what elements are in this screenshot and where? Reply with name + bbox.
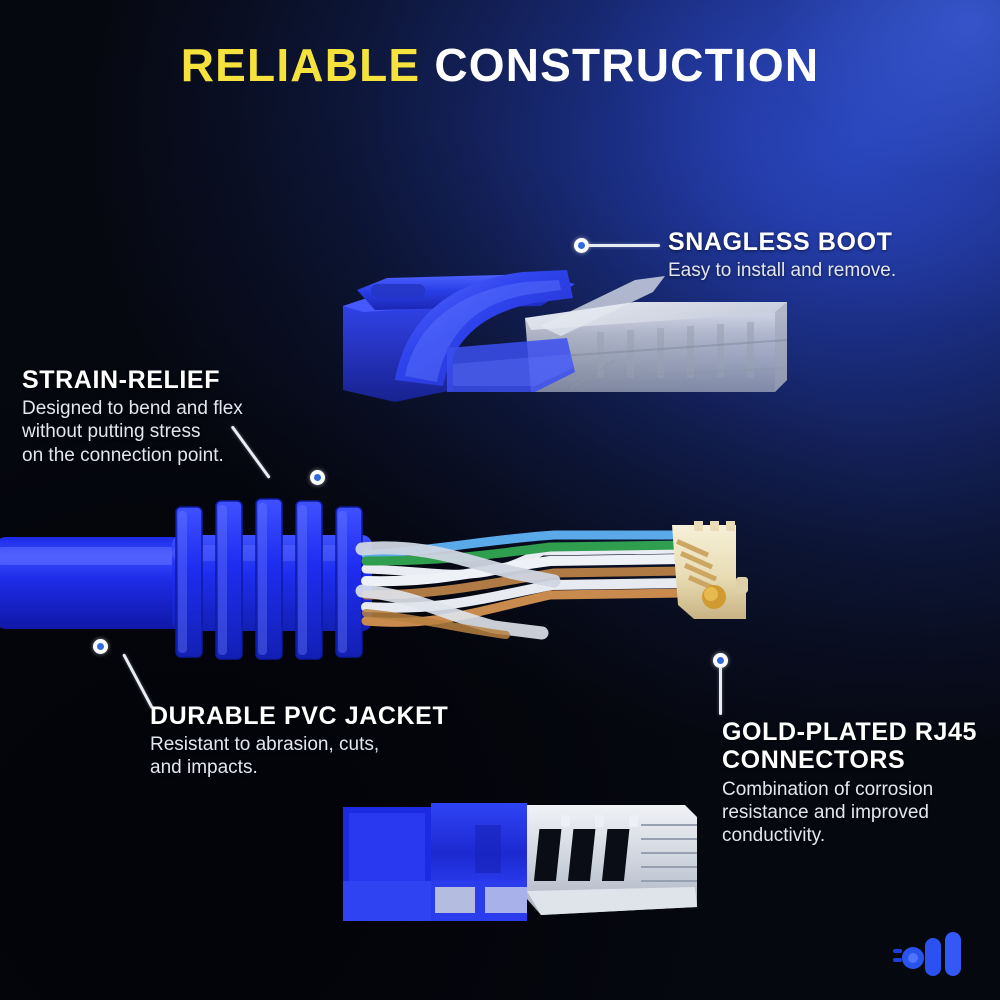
callout-heading: DURABLE PVC JACKET [150,702,448,730]
infographic-canvas: RELIABLE CONSTRUCTION [0,0,1000,1000]
plug-bars-logo [893,928,965,976]
cable-illustration [0,495,774,675]
callout-pvc-jacket: DURABLE PVC JACKET Resistant to abrasion… [150,702,448,780]
blue-boot-underside [343,803,527,921]
leader-line-rj45 [719,667,722,715]
callout-heading: STRAIN-RELIEF [22,366,243,394]
connector-underside-illustration [335,795,705,930]
callout-body-line-1: Resistant to abrasion, cuts, [150,733,448,756]
callout-body: Combination of corrosion resistance and … [722,778,977,848]
callout-body-line-1: Combination of corrosion [722,778,977,801]
callout-body-line-3: on the connection point. [22,444,243,467]
callout-heading: GOLD-PLATED RJ45 CONNECTORS [722,718,977,775]
twisted-pair-wires [362,535,684,635]
callout-body: Easy to install and remove. [668,259,896,282]
callout-body: Resistant to abrasion, cuts, and impacts… [150,733,448,779]
strain-relief-boot [172,499,372,659]
callout-body-line-2: resistance and improved [722,801,977,824]
callout-body-line-1: Designed to bend and flex [22,397,243,420]
callout-marker-snagless-boot[interactable] [574,238,589,253]
callout-strain-relief: STRAIN-RELIEF Designed to bend and flex … [22,366,243,467]
title-rest: CONSTRUCTION [434,39,819,91]
callout-heading-line-2: CONNECTORS [722,746,977,774]
page-title: RELIABLE CONSTRUCTION [0,38,1000,92]
callout-marker-pvc-jacket[interactable] [93,639,108,654]
callout-body-line-3: conductivity. [722,824,977,847]
callout-heading: SNAGLESS BOOT [668,228,896,256]
callout-marker-strain-relief[interactable] [310,470,325,485]
leader-line-snagless-boot [588,244,660,247]
callout-body: Designed to bend and flex without puttin… [22,397,243,467]
callout-marker-rj45[interactable] [713,653,728,668]
gold-plated-rj45-connector [672,521,748,619]
plug-contact-slots [527,805,697,915]
title-highlight: RELIABLE [181,39,421,91]
callout-snagless-boot: SNAGLESS BOOT Easy to install and remove… [668,228,896,282]
callout-rj45: GOLD-PLATED RJ45 CONNECTORS Combination … [722,718,977,847]
callout-heading-line-1: GOLD-PLATED RJ45 [722,718,977,746]
callout-body-line-2: without putting stress [22,420,243,443]
callout-body-line-2: and impacts. [150,756,448,779]
